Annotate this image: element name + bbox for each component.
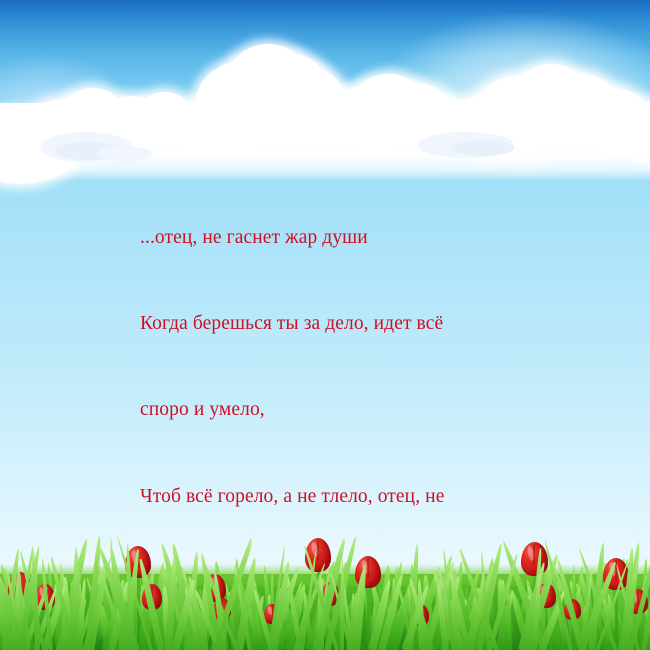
poem-line: ...отец, не гаснет жар души — [140, 224, 560, 253]
tulip-petal-split — [533, 544, 535, 565]
cloud-shadow-puff — [98, 146, 152, 162]
grass-field — [0, 520, 650, 650]
greeting-card: ...отец, не гаснет жар души Когда берешь… — [0, 0, 650, 650]
cloud-band — [0, 36, 650, 181]
poem-line: споро и умело, — [140, 396, 560, 425]
poem-line: Когда берешься ты за дело, идет всё — [140, 310, 560, 339]
tulip-petal-split — [367, 558, 369, 578]
cloud-shadow-puff — [452, 140, 514, 156]
poem-line: Чтоб всё горело, а не тлело, отец, не — [140, 483, 560, 512]
tulip-stem — [367, 582, 370, 650]
tulip-petal-split — [317, 540, 319, 561]
